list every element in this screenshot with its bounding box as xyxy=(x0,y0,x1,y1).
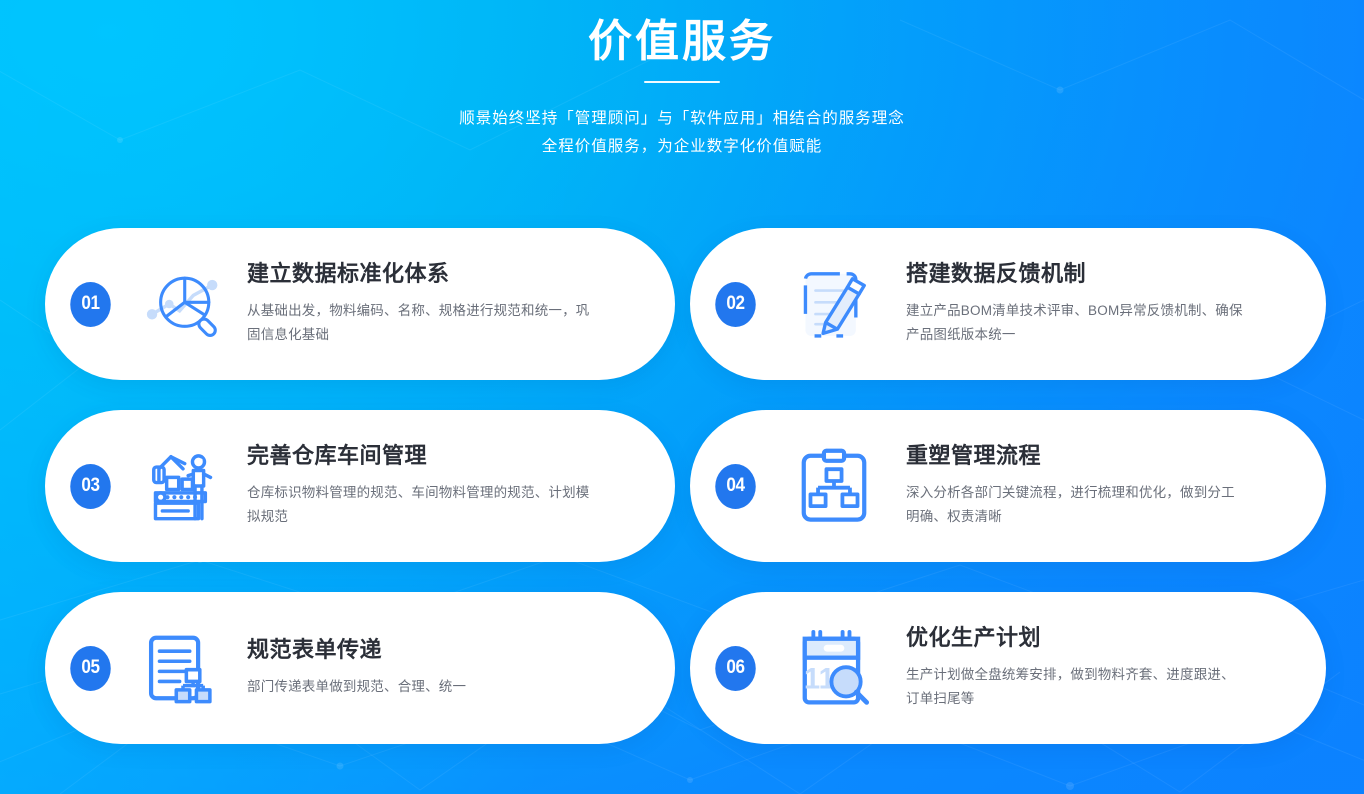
page-header: 价值服务 顺景始终坚持「管理顾问」与「软件应用」相结合的服务理念 全程价值服务，… xyxy=(0,0,1364,161)
page-subtitle: 顺景始终坚持「管理顾问」与「软件应用」相结合的服务理念 全程价值服务，为企业数字… xyxy=(232,105,1132,161)
service-card-02[interactable]: 02 搭建数据 xyxy=(690,228,1326,380)
service-card-grid: 01 xyxy=(45,228,1326,774)
service-card-01[interactable]: 01 xyxy=(45,228,675,380)
card-description: 深入分析各部门关键流程，进行梳理和优化，做到分工明确、权责清晰 xyxy=(906,481,1246,529)
card-description: 生产计划做全盘统筹安排，做到物料齐套、进度跟进、订单扫尾等 xyxy=(906,663,1246,711)
card-title: 搭建数据反馈机制 xyxy=(906,261,1246,287)
page-title: 价值服务 xyxy=(0,0,1364,69)
subtitle-line-2: 全程价值服务，为企业数字化价值赋能 xyxy=(232,133,1132,161)
card-row-1: 01 xyxy=(45,228,1326,380)
card-description: 部门传递表单做到规范、合理、统一 xyxy=(247,675,466,699)
calendar-magnifier-icon: 11 xyxy=(786,620,882,716)
card-number-badge: 06 xyxy=(715,646,756,691)
subtitle-line-1: 顺景始终坚持「管理顾问」与「软件应用」相结合的服务理念 xyxy=(232,105,1132,133)
card-title: 建立数据标准化体系 xyxy=(247,261,592,287)
bottom-wave-decoration xyxy=(0,714,1364,794)
service-card-03[interactable]: 03 xyxy=(45,410,675,562)
card-text-block: 完善仓库车间管理 仓库标识物料管理的规范、车间物料管理的规范、计划模拟规范 xyxy=(247,443,618,529)
card-description: 从基础出发，物料编码、名称、规格进行规范和统一，巩固信息化基础 xyxy=(247,299,592,347)
card-number-badge: 04 xyxy=(715,464,756,509)
title-divider xyxy=(644,81,720,83)
pencil-document-icon xyxy=(786,256,882,352)
card-number-badge: 01 xyxy=(70,282,111,327)
card-title: 重塑管理流程 xyxy=(906,443,1246,469)
card-text-block: 优化生产计划 生产计划做全盘统筹安排，做到物料齐套、进度跟进、订单扫尾等 xyxy=(906,625,1272,711)
card-number-badge: 05 xyxy=(70,646,111,691)
card-text-block: 规范表单传递 部门传递表单做到规范、合理、统一 xyxy=(247,637,492,699)
card-text-block: 建立数据标准化体系 从基础出发，物料编码、名称、规格进行规范和统一，巩固信息化基… xyxy=(247,261,618,347)
card-text-block: 重塑管理流程 深入分析各部门关键流程，进行梳理和优化，做到分工明确、权责清晰 xyxy=(906,443,1272,529)
card-number-badge: 03 xyxy=(70,464,111,509)
card-title: 优化生产计划 xyxy=(906,625,1246,651)
card-description: 建立产品BOM清单技术评审、BOM异常反馈机制、确保产品图纸版本统一 xyxy=(906,299,1246,347)
document-flowchart-icon xyxy=(135,620,231,716)
clipboard-orgchart-icon xyxy=(786,438,882,534)
card-row-2: 03 xyxy=(45,410,1326,562)
card-title: 规范表单传递 xyxy=(247,637,466,663)
card-title: 完善仓库车间管理 xyxy=(247,443,592,469)
pie-chart-magnifier-icon xyxy=(135,256,231,352)
card-description: 仓库标识物料管理的规范、车间物料管理的规范、计划模拟规范 xyxy=(247,481,592,529)
service-card-04[interactable]: 04 重塑管理流程 深入分析各部门关键流程，进行梳理和优化，做到分工明确、权责清… xyxy=(690,410,1326,562)
factory-assembly-line-icon xyxy=(135,438,231,534)
card-text-block: 搭建数据反馈机制 建立产品BOM清单技术评审、BOM异常反馈机制、确保产品图纸版… xyxy=(906,261,1272,347)
card-number-badge: 02 xyxy=(715,282,756,327)
